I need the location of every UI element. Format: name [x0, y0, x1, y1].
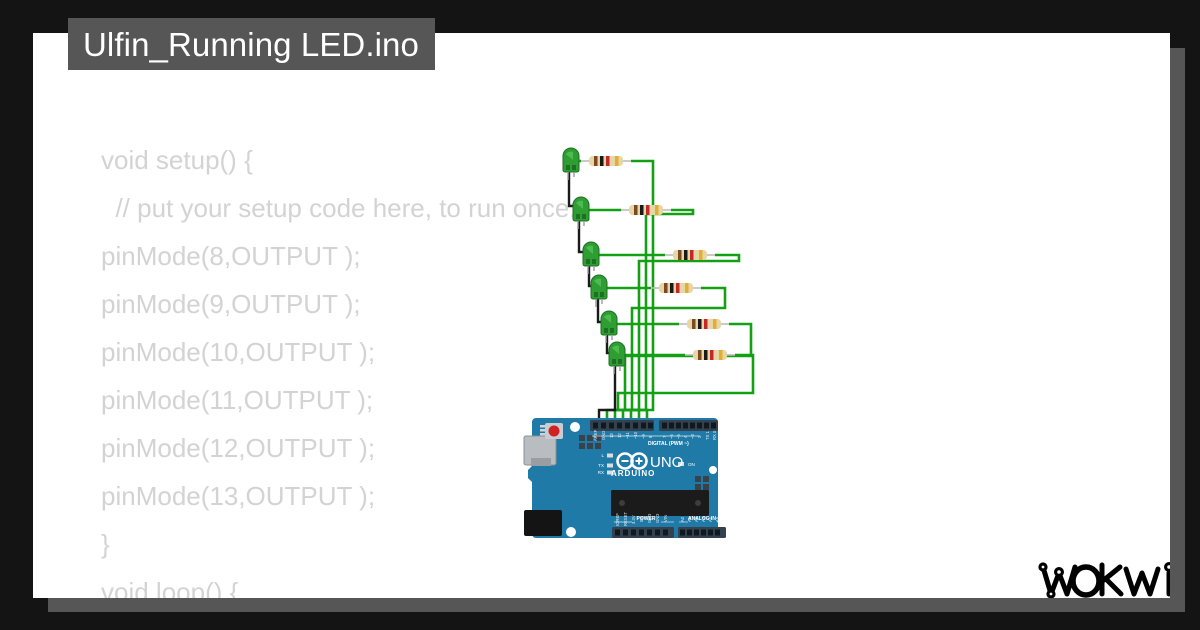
- led[interactable]: [583, 242, 599, 274]
- svg-text:RESET: RESET: [623, 512, 628, 526]
- svg-text:ON: ON: [688, 462, 695, 467]
- resistor[interactable]: [679, 319, 729, 329]
- reset-button-cap[interactable]: [549, 426, 560, 437]
- mounting-hole: [566, 527, 576, 537]
- svg-text:~10: ~10: [633, 431, 638, 439]
- wokwi-logo: [1038, 551, 1170, 598]
- circuit-diagram: AREF GND 13 12 ~11 ~10 ~9 8 7 ~6 ~5 4 ~3…: [503, 128, 783, 568]
- svg-text:RX: RX: [598, 470, 604, 475]
- power-label: POWER: [637, 516, 656, 522]
- svg-text:A0: A0: [680, 516, 685, 522]
- svg-text:TX: TX: [598, 463, 604, 468]
- mounting-hole: [709, 466, 717, 474]
- board-brand: ARDUINO: [611, 469, 655, 478]
- led[interactable]: [609, 342, 625, 374]
- svg-text:IOREF: IOREF: [615, 513, 620, 526]
- reset-pad: [540, 425, 545, 428]
- power-jack: [524, 510, 562, 536]
- digital-header-right[interactable]: [659, 420, 718, 431]
- resistor[interactable]: [665, 250, 715, 260]
- led[interactable]: [601, 311, 617, 343]
- led[interactable]: [563, 148, 579, 180]
- reset-pad: [540, 429, 545, 432]
- screenshot-root: void setup() { // put your setup code he…: [0, 0, 1200, 630]
- svg-text:VIN: VIN: [663, 515, 668, 522]
- resistor[interactable]: [651, 283, 701, 293]
- arduino-uno-board[interactable]: AREF GND 13 12 ~11 ~10 ~9 8 7 ~6 ~5 4 ~3…: [524, 418, 726, 538]
- svg-text:RX 0: RX 0: [712, 430, 717, 440]
- usb-shell: [531, 458, 551, 466]
- svg-text:GND: GND: [655, 514, 660, 523]
- resistor[interactable]: [581, 156, 631, 166]
- logo-letter-o: [1073, 567, 1099, 595]
- sketch-card: void setup() { // put your setup code he…: [33, 33, 1170, 598]
- svg-text:GND: GND: [601, 431, 606, 440]
- svg-text:3.3V: 3.3V: [631, 515, 636, 524]
- file-tab-title: Ulfin_Running LED.ino: [83, 28, 419, 61]
- led-group[interactable]: [563, 148, 625, 374]
- svg-text:AREF: AREF: [593, 429, 598, 441]
- reset-pad: [540, 433, 545, 436]
- svg-text:TX 1: TX 1: [705, 430, 710, 440]
- digital-header-label: DIGITAL (PWM ~): [648, 441, 689, 447]
- svg-text:~11: ~11: [625, 432, 630, 439]
- svg-text:13: 13: [609, 433, 614, 438]
- svg-text:12: 12: [617, 433, 622, 438]
- mounting-hole: [570, 422, 580, 432]
- led[interactable]: [573, 197, 589, 229]
- code-line: void loop() {: [101, 568, 801, 598]
- file-tab[interactable]: Ulfin_Running LED.ino: [68, 18, 435, 70]
- resistor[interactable]: [685, 350, 735, 360]
- analog-label: ANALOG IN: [688, 516, 716, 522]
